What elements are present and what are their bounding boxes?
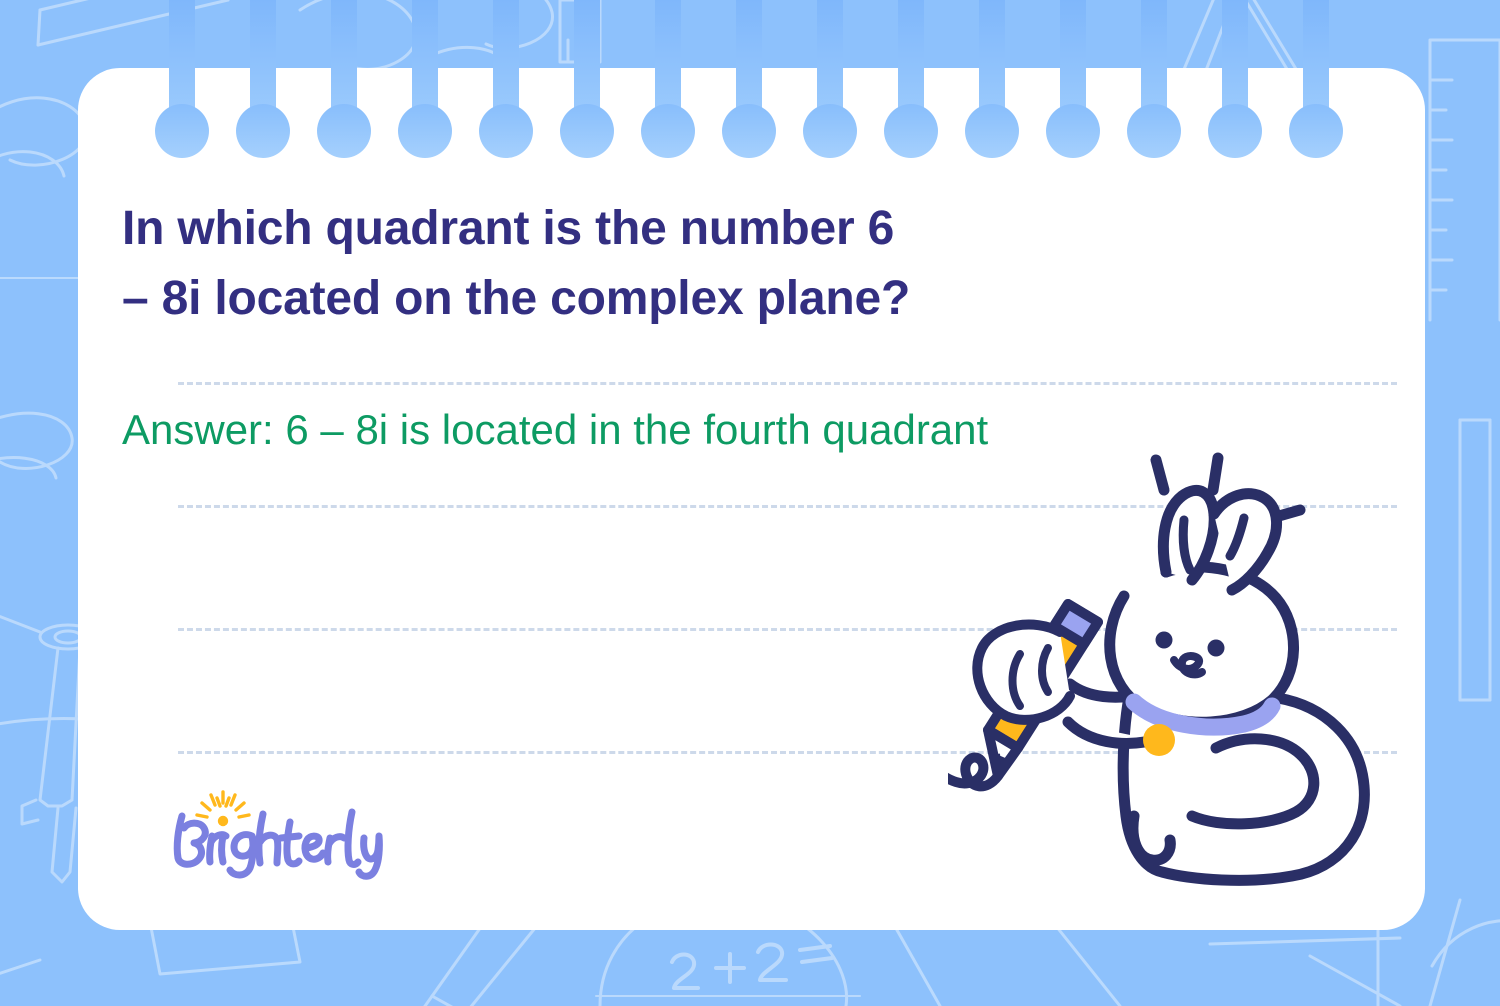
page-root: In which quadrant is the number 6 – 8i l… <box>0 0 1500 1006</box>
ruled-line <box>178 382 1397 385</box>
question-line-2: – 8i located on the complex plane? <box>122 264 1302 334</box>
sun-core-icon <box>218 816 228 826</box>
page-title: In which quadrant is the number 6 – 8i l… <box>122 194 1302 333</box>
sun-starburst-icon <box>197 792 249 817</box>
brighterly-logo[interactable] <box>168 790 388 880</box>
question-line-1: In which quadrant is the number 6 <box>122 194 1302 264</box>
bunny-paw <box>977 625 1070 720</box>
bunny-mascot <box>948 448 1388 898</box>
logo-wordmark <box>177 812 379 876</box>
notepad-card: In which quadrant is the number 6 – 8i l… <box>78 68 1425 930</box>
collar-tag-icon <box>1143 724 1175 756</box>
